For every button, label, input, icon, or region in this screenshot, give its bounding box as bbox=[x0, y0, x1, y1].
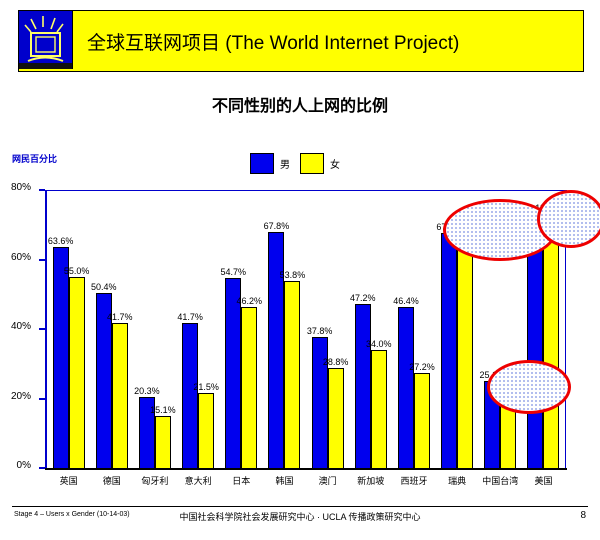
bar-男-中国台湾: 25.1% bbox=[484, 381, 500, 468]
bar-group: 63.6%55.0% bbox=[47, 190, 90, 468]
bar-男-西班牙: 46.4% bbox=[398, 307, 414, 468]
bar-group: 47.2%34.0% bbox=[349, 190, 392, 468]
x-axis-label-日本: 日本 bbox=[220, 474, 263, 487]
bar-value-label: 47.2% bbox=[350, 293, 376, 303]
y-tick-label: 60% bbox=[11, 252, 31, 263]
x-axis-labels: 英国德国匈牙利意大利日本韩国澳门新加坡西班牙瑞典中国台湾美国 bbox=[47, 474, 565, 487]
bar-女-美国: 69.0% bbox=[543, 228, 559, 468]
footer-divider bbox=[12, 506, 588, 507]
bar-series-container: 63.6%55.0%50.4%41.7%20.3%15.1%41.7%21.5%… bbox=[47, 190, 565, 468]
bar-group: 25.1%23.5% bbox=[479, 190, 522, 468]
x-axis-label-德国: 德国 bbox=[90, 474, 133, 487]
bar-group: 54.7%46.2% bbox=[220, 190, 263, 468]
bar-value-label: 54.7% bbox=[221, 267, 247, 277]
bar-女-西班牙: 27.2% bbox=[414, 373, 430, 468]
bar-value-label: 67.7% bbox=[436, 222, 462, 232]
slide: 全球互联网项目 (The World Internet Project) 不同性… bbox=[0, 0, 600, 540]
x-axis-label-新加坡: 新加坡 bbox=[349, 474, 392, 487]
plot-right-border bbox=[565, 190, 566, 470]
bar-value-label: 41.7% bbox=[177, 312, 203, 322]
footer-page-number: 8 bbox=[580, 510, 586, 521]
x-axis-line bbox=[45, 468, 567, 470]
bar-女-德国: 41.7% bbox=[112, 323, 128, 468]
bar-value-label: 64.4% bbox=[452, 233, 478, 243]
bar-男-美国: 73.1% bbox=[527, 214, 543, 468]
x-axis-label-瑞典: 瑞典 bbox=[436, 474, 479, 487]
x-axis-label-英国: 英国 bbox=[47, 474, 90, 487]
bar-value-label: 23.5% bbox=[496, 375, 522, 385]
x-axis-label-韩国: 韩国 bbox=[263, 474, 306, 487]
y-tick-0: 0% bbox=[39, 467, 45, 469]
bar-女-匈牙利: 15.1% bbox=[155, 416, 171, 468]
bar-value-label: 46.2% bbox=[237, 296, 263, 306]
bar-value-label: 67.8% bbox=[264, 221, 290, 231]
x-axis-label-意大利: 意大利 bbox=[177, 474, 220, 487]
bar-value-label: 27.2% bbox=[409, 362, 435, 372]
bar-value-label: 34.0% bbox=[366, 339, 392, 349]
bar-女-新加坡: 34.0% bbox=[371, 350, 387, 468]
y-tick-label: 0% bbox=[17, 460, 31, 471]
y-tick-40: 40% bbox=[39, 328, 45, 330]
bar-group: 50.4%41.7% bbox=[90, 190, 133, 468]
bar-男-韩国: 67.8% bbox=[268, 232, 284, 468]
bar-group: 67.7%64.4% bbox=[436, 190, 479, 468]
bar-value-label: 41.7% bbox=[107, 312, 133, 322]
bar-value-label: 20.3% bbox=[134, 386, 160, 396]
bar-女-日本: 46.2% bbox=[241, 307, 257, 468]
bar-group: 46.4%27.2% bbox=[392, 190, 435, 468]
y-tick-label: 80% bbox=[11, 182, 31, 193]
y-tick-20: 20% bbox=[39, 398, 45, 400]
bar-value-label: 69.0% bbox=[539, 217, 565, 227]
x-axis-label-澳门: 澳门 bbox=[306, 474, 349, 487]
plot-frame: 0%20%40%60%80% 63.6%55.0%50.4%41.7%20.3%… bbox=[45, 190, 567, 470]
bar-group: 67.8%53.8% bbox=[263, 190, 306, 468]
bar-男-新加坡: 47.2% bbox=[355, 304, 371, 468]
bar-value-label: 37.8% bbox=[307, 326, 333, 336]
bar-group: 41.7%21.5% bbox=[177, 190, 220, 468]
bar-value-label: 73.1% bbox=[523, 203, 549, 213]
bar-女-瑞典: 64.4% bbox=[457, 244, 473, 468]
bar-value-label: 21.5% bbox=[193, 382, 219, 392]
bar-女-中国台湾: 23.5% bbox=[500, 386, 516, 468]
bar-女-澳门: 28.8% bbox=[328, 368, 344, 468]
bar-value-label: 63.6% bbox=[48, 236, 74, 246]
bar-男-瑞典: 67.7% bbox=[441, 233, 457, 468]
bar-女-韩国: 53.8% bbox=[284, 281, 300, 468]
bar-value-label: 55.0% bbox=[64, 266, 90, 276]
bar-value-label: 28.8% bbox=[323, 357, 349, 367]
y-tick-80: 80% bbox=[39, 189, 45, 191]
bar-group: 20.3%15.1% bbox=[133, 190, 176, 468]
bar-value-label: 50.4% bbox=[91, 282, 117, 292]
bar-group: 73.1%69.0% bbox=[522, 190, 565, 468]
footer-center-text: 中国社会科学院社会发展研究中心 · UCLA 传播政策研究中心 bbox=[0, 510, 600, 523]
x-axis-label-中国台湾: 中国台湾 bbox=[479, 474, 522, 487]
x-axis-label-西班牙: 西班牙 bbox=[392, 474, 435, 487]
bar-value-label: 15.1% bbox=[150, 405, 176, 415]
bar-女-意大利: 21.5% bbox=[198, 393, 214, 468]
x-axis-label-匈牙利: 匈牙利 bbox=[133, 474, 176, 487]
bar-男-意大利: 41.7% bbox=[182, 323, 198, 468]
y-tick-label: 40% bbox=[11, 321, 31, 332]
bar-男-英国: 63.6% bbox=[53, 247, 69, 468]
bar-group: 37.8%28.8% bbox=[306, 190, 349, 468]
y-tick-label: 20% bbox=[11, 391, 31, 402]
bar-女-英国: 55.0% bbox=[69, 277, 85, 468]
y-tick-60: 60% bbox=[39, 259, 45, 261]
bar-value-label: 46.4% bbox=[393, 296, 419, 306]
bar-value-label: 53.8% bbox=[280, 270, 306, 280]
chart-area: 0%20%40%60%80% 63.6%55.0%50.4%41.7%20.3%… bbox=[0, 0, 600, 540]
x-axis-label-美国: 美国 bbox=[522, 474, 565, 487]
